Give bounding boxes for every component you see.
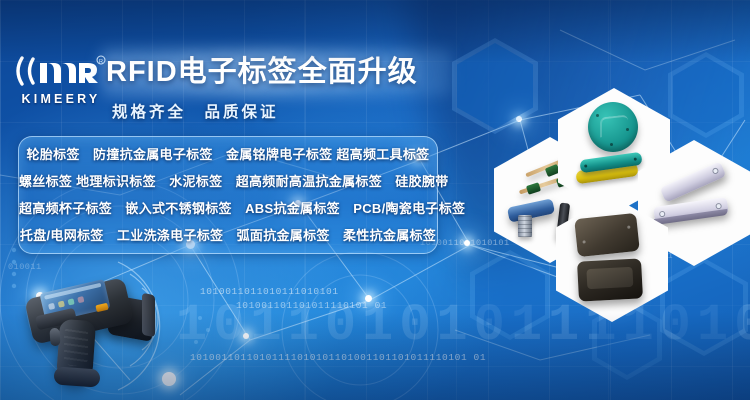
teal-disc-tag [588, 102, 638, 152]
rugged-tag-bottom [577, 258, 643, 301]
product-list-panel: 轮胎标签 防撞抗金属电子标签 金属铭牌电子标签 超高频工具标签 螺丝标签 地理标… [18, 136, 438, 254]
reader-trigger[interactable] [49, 328, 60, 347]
product-list-row: 轮胎标签 防撞抗金属电子标签 金属铭牌电子标签 超高频工具标签 [19, 141, 437, 168]
rugged-tag-top [574, 213, 640, 257]
anti-metal-tag [660, 161, 727, 202]
reader-grip-base [53, 366, 100, 387]
headline-text: RFID电子标签全面升级 [106, 50, 446, 94]
reader-grip-texture [64, 326, 88, 366]
handheld-rfid-reader[interactable] [24, 272, 169, 390]
brand-name: KIMEERY [18, 92, 104, 106]
reader-uhf-module-edge [142, 293, 155, 337]
rfid-promo-banner: 1011010101111010 1010011011010111010101 … [0, 0, 750, 400]
screw-threads [518, 215, 532, 237]
product-list-row: 螺丝标签 地理标识标签 水泥标签 超高频耐高温抗金属标签 硅胶腕带 [19, 168, 437, 195]
kimeery-logo-icon: R [14, 52, 106, 90]
binary-text-line-3: 1010011011010111101010110100110110101111… [190, 352, 486, 363]
headline-block: RFID电子标签全面升级 [106, 50, 446, 94]
brand-logo[interactable]: R KIMEERY [14, 52, 106, 110]
binary-text-line-5: 010011 [8, 262, 42, 272]
subtitle-text: 规格齐全 品质保证 [112, 100, 279, 122]
binary-text-line-2: 101001101101011110101 01 [236, 300, 387, 311]
product-list-row: 托盘/电网标签 工业洗涤电子标签 弧面抗金属标签 柔性抗金属标签 [19, 222, 437, 249]
product-list-row: 超高频杯子标签 嵌入式不锈钢标签 ABS抗金属标签 PCB/陶瓷电子标签 [19, 195, 437, 222]
stick-tag-chip [526, 182, 541, 195]
